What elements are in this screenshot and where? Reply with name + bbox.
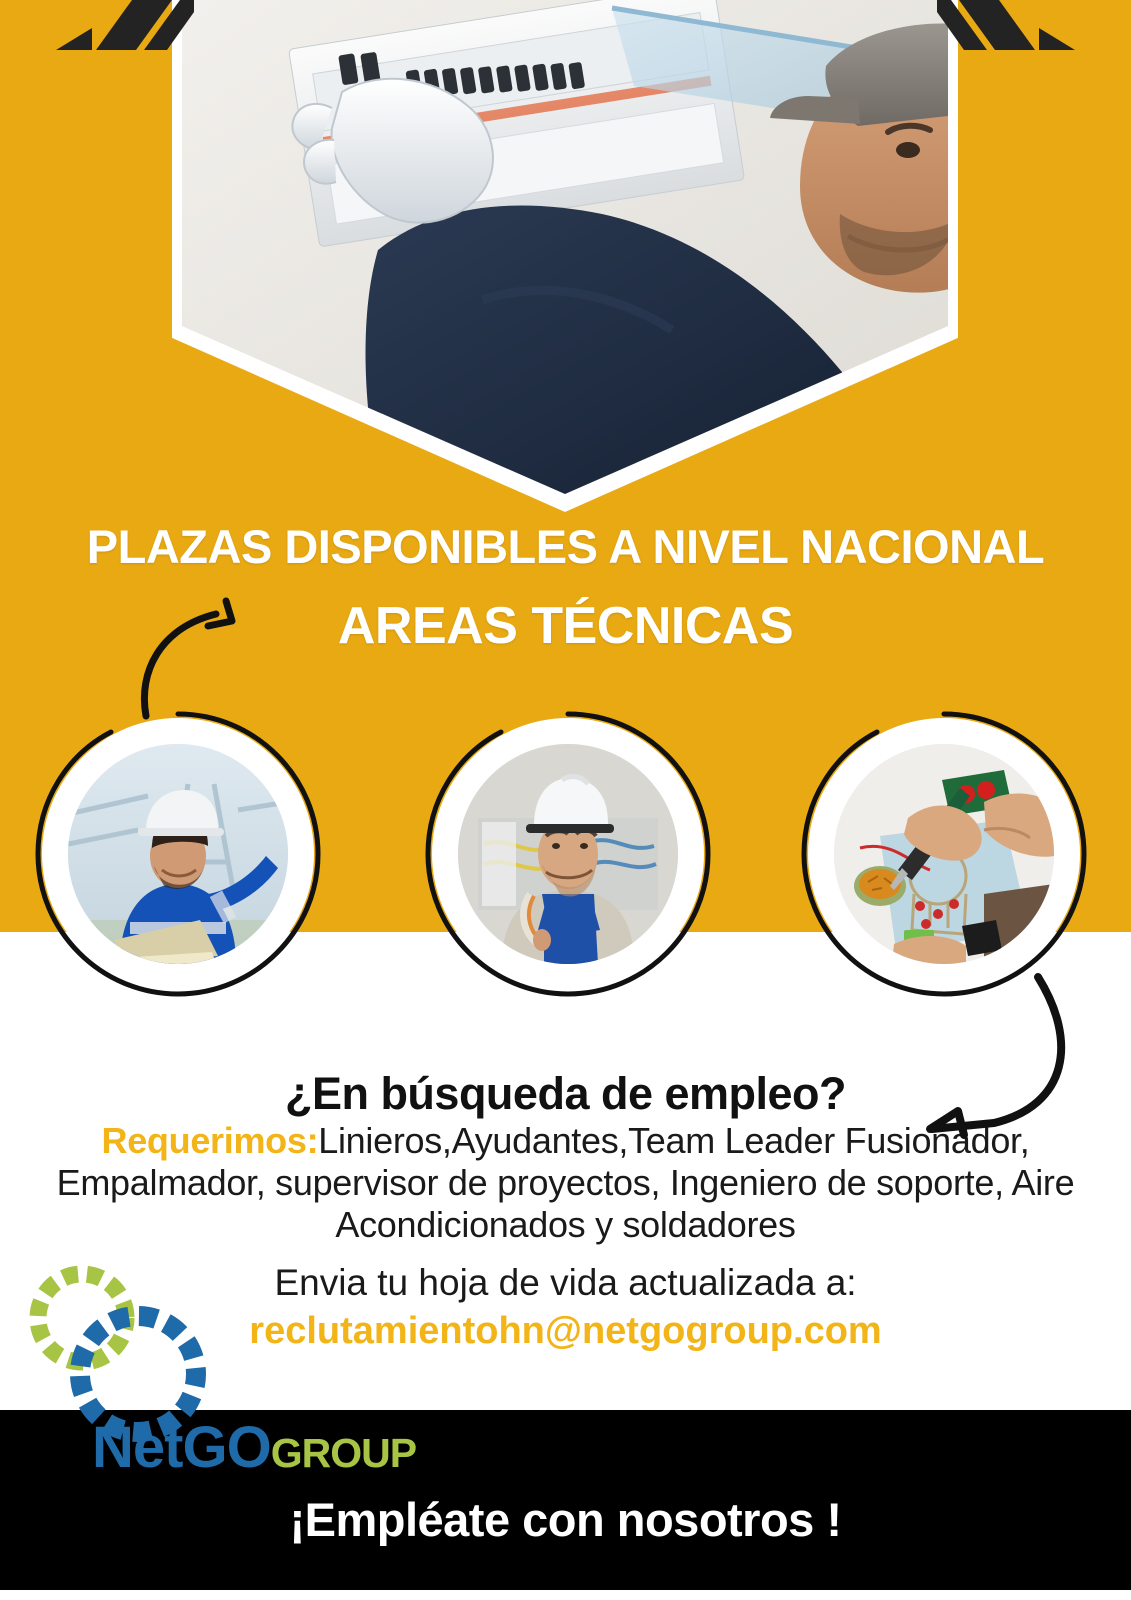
- footer-tagline: ¡Empléate con nosotros !: [0, 1492, 1131, 1547]
- logo-text-go: GO: [182, 1415, 270, 1480]
- curved-arrow-down-left-icon: [872, 955, 1092, 1150]
- circle-photo-engineer: [42, 718, 314, 990]
- logo-text-net: Net: [92, 1415, 182, 1480]
- bottom-white-strip: [0, 1590, 1131, 1600]
- circle-sketch-outline-2: [419, 705, 717, 1003]
- circle-photo-soldering: [808, 718, 1080, 990]
- requirements-label: Requerimos:: [102, 1120, 319, 1161]
- netgo-logo-wordmark: NetGOGROUP: [92, 1414, 416, 1481]
- circle-photo-electrician: [432, 718, 704, 990]
- page-title: PLAZAS DISPONIBLES A NIVEL NACIONAL: [0, 519, 1131, 575]
- hazard-stripes-left: [44, 0, 194, 55]
- curved-arrow-up-right-icon: [108, 580, 288, 725]
- logo-text-group: GROUP: [271, 1430, 416, 1476]
- hazard-stripes-right: [937, 0, 1087, 55]
- circle-sketch-outline-1: [29, 705, 327, 1003]
